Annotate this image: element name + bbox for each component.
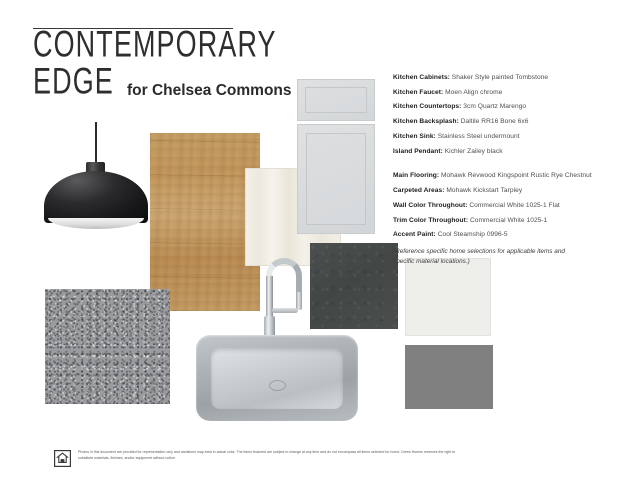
footer-disclaimer: Photos in this document are provided for…: [78, 450, 470, 461]
spec-label: Trim Color Throughout:: [393, 217, 468, 224]
spec-row: Carpeted Areas: Mohawk Kickstart Tarpley: [393, 186, 633, 196]
pendant-dome: [44, 171, 148, 223]
sink-basin-inner: [211, 348, 343, 409]
accent-paint-chip: [405, 345, 493, 409]
spec-group-kitchen: Kitchen Cabinets: Shaker Style painted T…: [393, 73, 633, 156]
spec-row: Kitchen Sink: Stainless Steel undermount: [393, 132, 633, 142]
pendant-rim: [48, 218, 144, 229]
spec-value: Commercial White 1025-1: [470, 217, 547, 224]
spec-value: Mohawk Kickstart Tarpley: [446, 187, 522, 194]
spec-value: Commercial White 1025-1 Flat: [469, 202, 559, 209]
spec-row: Kitchen Countertops: 3cm Quartz Marengo: [393, 102, 633, 112]
spec-row: Kitchen Faucet: Moen Align chrome: [393, 88, 633, 98]
spec-label: Accent Paint:: [393, 231, 436, 238]
faucet-handle: [272, 308, 298, 313]
spec-label: Kitchen Backsplash:: [393, 118, 459, 125]
spec-reference-note: (Reference specific home selections for …: [393, 247, 573, 266]
cabinet-door-inset: [306, 133, 366, 225]
spec-value: Kichler Zailey black: [445, 148, 503, 155]
spec-value: 3cm Quartz Marengo: [463, 103, 526, 110]
spec-group-finishes: Main Flooring: Mohawk Revwood Kingspoint…: [393, 171, 633, 239]
equal-housing-opportunity-icon: [54, 450, 71, 467]
spec-label: Carpeted Areas:: [393, 187, 444, 194]
spec-label: Wall Color Throughout:: [393, 202, 467, 209]
spec-value: Daltile RR16 Bone 6x6: [461, 118, 529, 125]
specification-list: Kitchen Cabinets: Shaker Style painted T…: [393, 73, 633, 266]
material-collage: [0, 0, 400, 440]
spec-label: Kitchen Cabinets:: [393, 74, 450, 81]
sink-image: [196, 335, 358, 421]
spec-value: Stainless Steel undermount: [438, 133, 520, 140]
spec-row: Kitchen Cabinets: Shaker Style painted T…: [393, 73, 633, 83]
sink-drain: [269, 380, 286, 391]
spec-row: Island Pendant: Kichler Zailey black: [393, 147, 633, 157]
spec-row: Accent Paint: Cool Steamship 0996-5: [393, 230, 633, 240]
spec-label: Island Pendant:: [393, 148, 443, 155]
spec-label: Main Flooring:: [393, 172, 439, 179]
spec-label: Kitchen Countertops:: [393, 103, 461, 110]
pendant-cord: [95, 122, 97, 164]
countertop-quartz-swatch: [310, 243, 398, 329]
spec-value: Moen Align chrome: [445, 89, 502, 96]
page-footer: Photos in this document are provided for…: [54, 450, 474, 467]
faucet-spout: [296, 292, 302, 310]
spec-value: Shaker Style painted Tombstone: [452, 74, 548, 81]
spec-label: Kitchen Faucet:: [393, 89, 443, 96]
spec-value: Mohawk Revwood Kingspoint Rustic Rye Che…: [441, 172, 592, 179]
carpet-swatch: [45, 289, 170, 404]
spec-group-divider: [393, 161, 633, 171]
spec-row: Trim Color Throughout: Commercial White …: [393, 216, 633, 226]
cabinet-door-sample: [297, 124, 375, 234]
spec-label: Kitchen Sink:: [393, 133, 436, 140]
spec-sheet-page: CONTEMPORARY EDGE for Chelsea Commons: [0, 0, 640, 495]
spec-row: Kitchen Backsplash: Daltile RR16 Bone 6x…: [393, 117, 633, 127]
pendant-light-image: [34, 122, 156, 250]
cabinet-drawer-front-sample: [297, 79, 375, 121]
spec-value: Cool Steamship 0996-5: [438, 231, 508, 238]
cabinet-drawer-inset: [305, 87, 367, 113]
wall-paint-chip: [405, 258, 491, 336]
faucet-image: [252, 258, 312, 342]
spec-row: Main Flooring: Mohawk Revwood Kingspoint…: [393, 171, 633, 181]
spec-row: Wall Color Throughout: Commercial White …: [393, 201, 633, 211]
wood-flooring-swatch: [150, 133, 260, 311]
